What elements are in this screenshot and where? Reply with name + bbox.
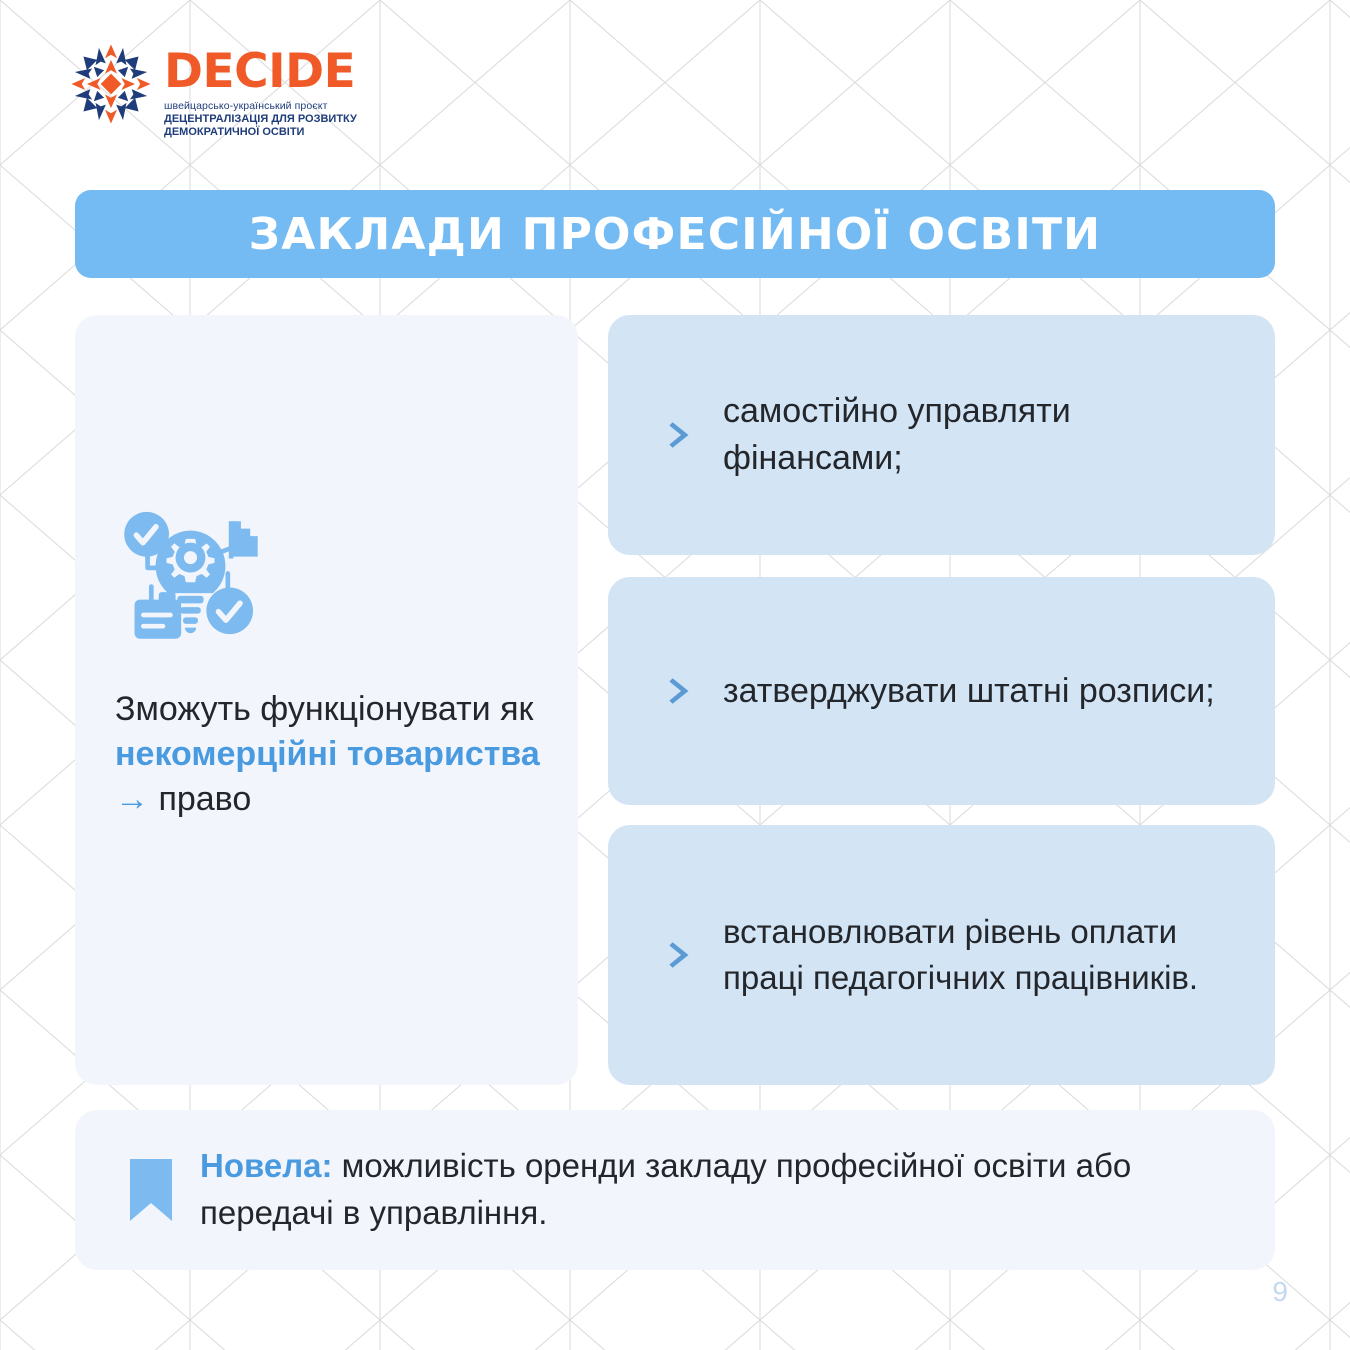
slide-header-banner: ЗАКЛАДИ ПРОФЕСІЙНОЇ ОСВІТИ (75, 190, 1275, 278)
chevron-right-icon (663, 674, 697, 708)
left-text-seg-2: → (115, 780, 158, 818)
left-text-seg-0: Зможуть функціонувати як (115, 690, 533, 728)
note-card: Новела: можливість оренди закладу профес… (75, 1110, 1275, 1270)
note-body: можливість оренди закладу професійної ос… (200, 1147, 1131, 1231)
bookmark-icon (130, 1159, 172, 1221)
slide-root: DECIDE швейцарсько-український проєкт ДЕ… (0, 0, 1350, 1350)
brand-logo: DECIDE швейцарсько-український проєкт ДЕ… (68, 38, 357, 139)
chevron-right-icon (663, 938, 697, 972)
bullet-card-finances: самостійно управляти фінансами; (608, 315, 1275, 555)
chevron-right-icon (663, 418, 697, 452)
bullet-card-staffing: затверджувати штатні розписи; (608, 577, 1275, 805)
bullet-label: встановлювати рівень оплати праці педаго… (723, 909, 1275, 1000)
left-text-seg-1: некомерційні товариства (115, 735, 540, 773)
left-card-text: Зможуть функціонувати як некомерційні то… (115, 687, 555, 822)
left-text-seg-3: право (158, 780, 251, 818)
page-title: ЗАКЛАДИ ПРОФЕСІЙНОЇ ОСВІТИ (249, 209, 1101, 260)
bullet-card-salary: встановлювати рівень оплати праці педаго… (608, 825, 1275, 1085)
bullet-label: затверджувати штатні розписи; (723, 668, 1245, 715)
note-label: Новела: (200, 1147, 333, 1184)
logo-tagline: швейцарсько-український проєкт (164, 100, 357, 112)
gear-lightbulb-process-icon (113, 510, 268, 650)
decide-snowflake-logo-icon (68, 38, 154, 130)
note-text: Новела: можливість оренди закладу профес… (200, 1143, 1275, 1237)
page-number: 9 (1272, 1276, 1288, 1308)
logo-text-group: DECIDE швейцарсько-український проєкт ДЕ… (164, 38, 357, 139)
logo-wordmark: DECIDE (164, 50, 357, 95)
bullet-label: самостійно управляти фінансами; (723, 388, 1275, 482)
left-summary-card: Зможуть функціонувати як некомерційні то… (75, 315, 578, 1085)
logo-subtitle: ДЕЦЕНТРАЛІЗАЦІЯ ДЛЯ РОЗВИТКУ ДЕМОКРАТИЧН… (164, 113, 357, 140)
